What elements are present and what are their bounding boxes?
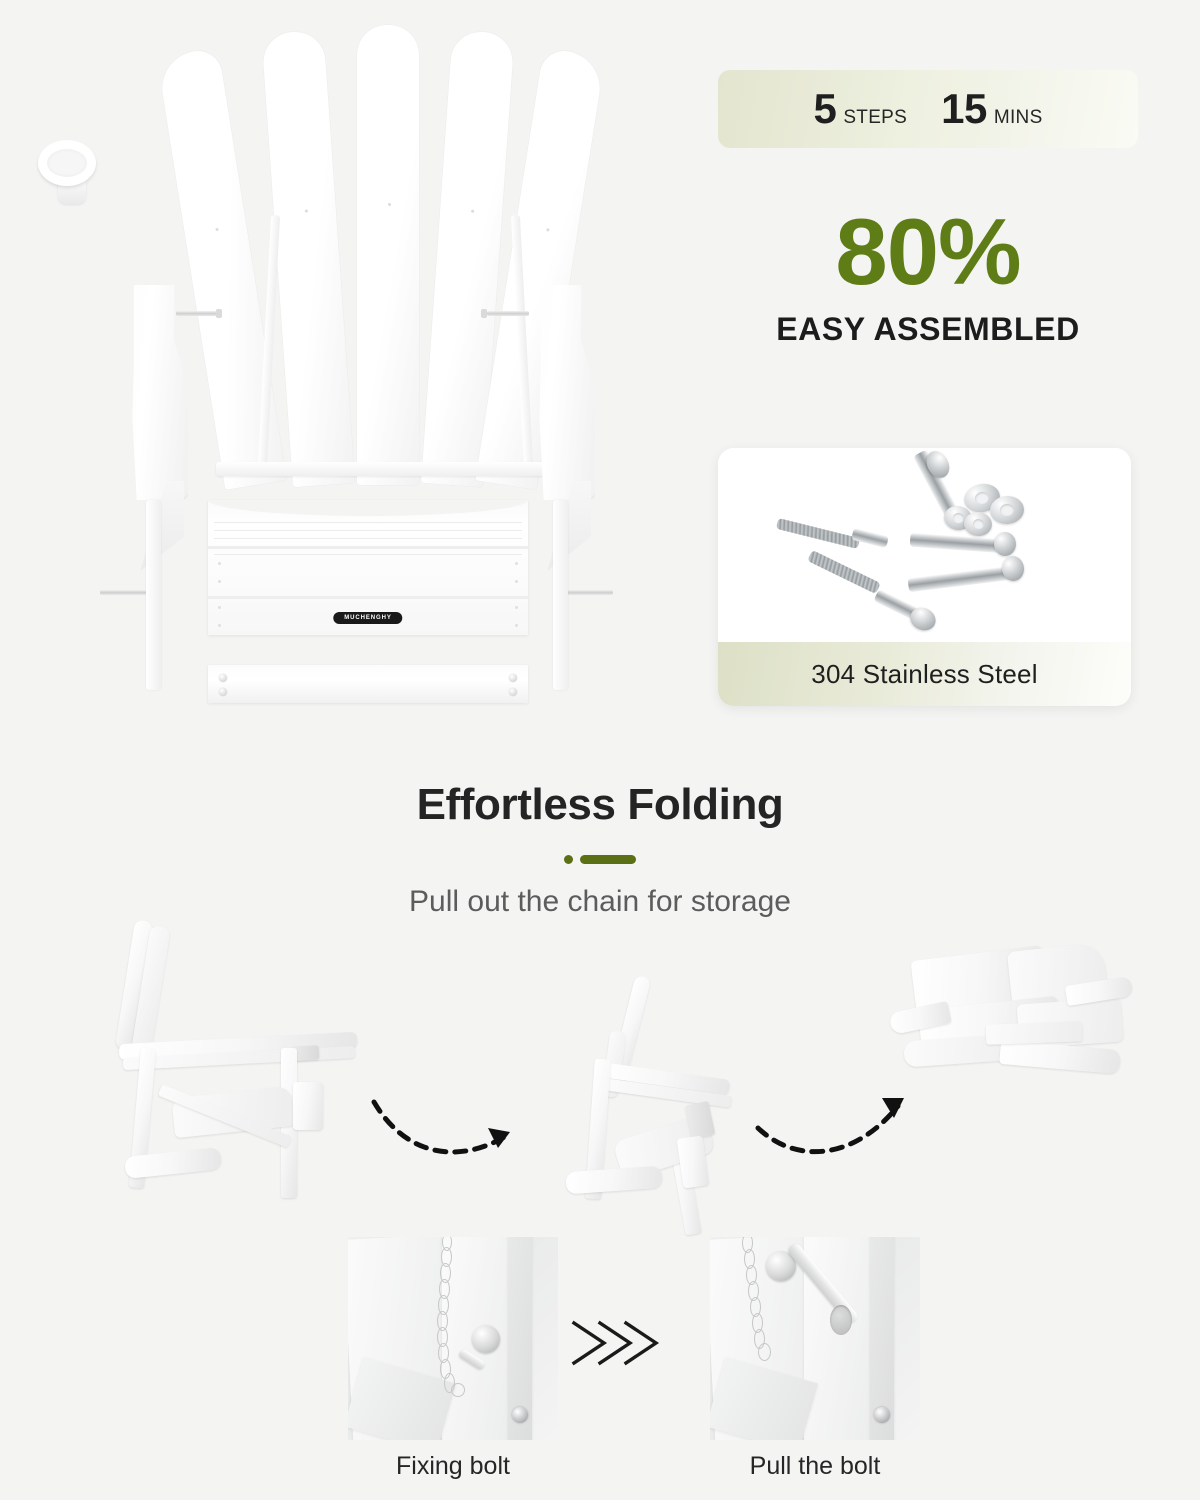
- steel-caption-bar: 304 Stainless Steel: [718, 642, 1131, 706]
- pull-the-bolt-panel: [710, 1237, 920, 1440]
- threaded-bolt: [776, 518, 860, 549]
- right-column: 5 STEPS 15 MINS 80% EASY ASSEMBLED: [700, 0, 1170, 760]
- cup-holder-ring: [38, 140, 96, 186]
- chair-folded-flat: [890, 945, 1130, 1115]
- mounting-screw: [512, 1407, 528, 1423]
- slat-hole: [471, 210, 474, 213]
- bolt-shank: [910, 533, 1007, 554]
- chain-link: [758, 1343, 771, 1361]
- arm-panel-body: [525, 285, 597, 500]
- bolt-head: [994, 532, 1016, 556]
- slat-hole: [305, 209, 308, 212]
- mounting-screw: [874, 1407, 890, 1423]
- exploded-parts-diagram: MUCHENGHY: [30, 10, 690, 750]
- brand-badge: MUCHENGHY: [333, 612, 402, 624]
- chair-assembled: [95, 920, 375, 1210]
- backrest-bottom-rail: [216, 462, 546, 476]
- folding-section: Effortless Folding Pull out the chain fo…: [0, 760, 1200, 1260]
- left-front-leg: [146, 500, 161, 690]
- seat-panel: MUCHENGHY: [208, 500, 528, 635]
- arm-bolt: [487, 311, 529, 316]
- folded-base-rail: [999, 1040, 1121, 1074]
- crossbar: [208, 665, 528, 703]
- left-arm-panel: [118, 285, 190, 515]
- mins-stat: 15 MINS: [941, 88, 1042, 130]
- top-section: MUCHENGHY 5 STEPS 15 MINS: [0, 0, 1200, 760]
- right-front-leg: [553, 500, 568, 690]
- slat-hole: [215, 228, 218, 231]
- fixing-bolt-label: Fixing bolt: [348, 1452, 558, 1481]
- folding-arrow-1: [368, 1090, 538, 1180]
- fixing-bolt-panel: [348, 1237, 558, 1440]
- seat-top-contour: [208, 500, 528, 516]
- crossbar-screw: [509, 688, 517, 696]
- slat-hole: [546, 228, 549, 231]
- percent-block: 80% EASY ASSEMBLED: [718, 205, 1138, 348]
- crossbar-screw: [219, 674, 227, 682]
- leg-bolt: [100, 590, 146, 595]
- empty-bolt-hole: [830, 1305, 852, 1335]
- crossbar-screw: [219, 688, 227, 696]
- slat-hole: [388, 203, 391, 206]
- steps-unit: STEPS: [843, 107, 907, 129]
- percent-value: 80%: [718, 205, 1138, 299]
- arm-bolt-head: [481, 309, 487, 318]
- foot-rail: [565, 1166, 662, 1195]
- hardware-photo: [718, 448, 1131, 642]
- steps-number: 5: [813, 88, 836, 130]
- bolt-detail-section: Fixing bolt: [0, 1230, 1200, 1500]
- backrest-slat: [357, 25, 419, 485]
- steps-stat: 5 STEPS: [813, 88, 907, 130]
- steel-caption-text: 304 Stainless Steel: [811, 659, 1037, 690]
- threaded-bolt: [807, 550, 881, 594]
- chevron-right-triple-icon: [560, 1315, 710, 1371]
- washer: [989, 495, 1025, 525]
- cup-holder: [38, 140, 100, 202]
- folding-subtitle: Pull out the chain for storage: [0, 885, 1200, 919]
- chain-link: [451, 1383, 465, 1397]
- arm-bolt: [176, 311, 218, 316]
- mins-number: 15: [941, 88, 987, 130]
- side-bracket: [293, 1082, 323, 1130]
- steps-time-badge: 5 STEPS 15 MINS: [718, 70, 1138, 148]
- title-divider: [0, 855, 1200, 864]
- stainless-steel-card: 304 Stainless Steel: [718, 448, 1131, 706]
- folded-cross-rail: [986, 1021, 1083, 1044]
- percent-caption: EASY ASSEMBLED: [718, 311, 1138, 348]
- crossbar-screw: [509, 674, 517, 682]
- right-arm-panel: [525, 285, 597, 515]
- divider-bar: [580, 855, 636, 864]
- washer: [963, 511, 993, 538]
- mins-unit: MINS: [994, 107, 1043, 129]
- arm-bolt-head: [216, 309, 222, 318]
- pull-the-bolt-label: Pull the bolt: [710, 1452, 920, 1481]
- folding-title: Effortless Folding: [0, 780, 1200, 830]
- leg-bolt: [567, 590, 613, 595]
- bolt-shank: [908, 566, 1013, 593]
- bolt-knob: [472, 1325, 500, 1353]
- divider-dot: [564, 855, 573, 864]
- infographic-page: MUCHENGHY 5 STEPS 15 MINS: [0, 0, 1200, 1500]
- arm-panel-body: [118, 285, 190, 500]
